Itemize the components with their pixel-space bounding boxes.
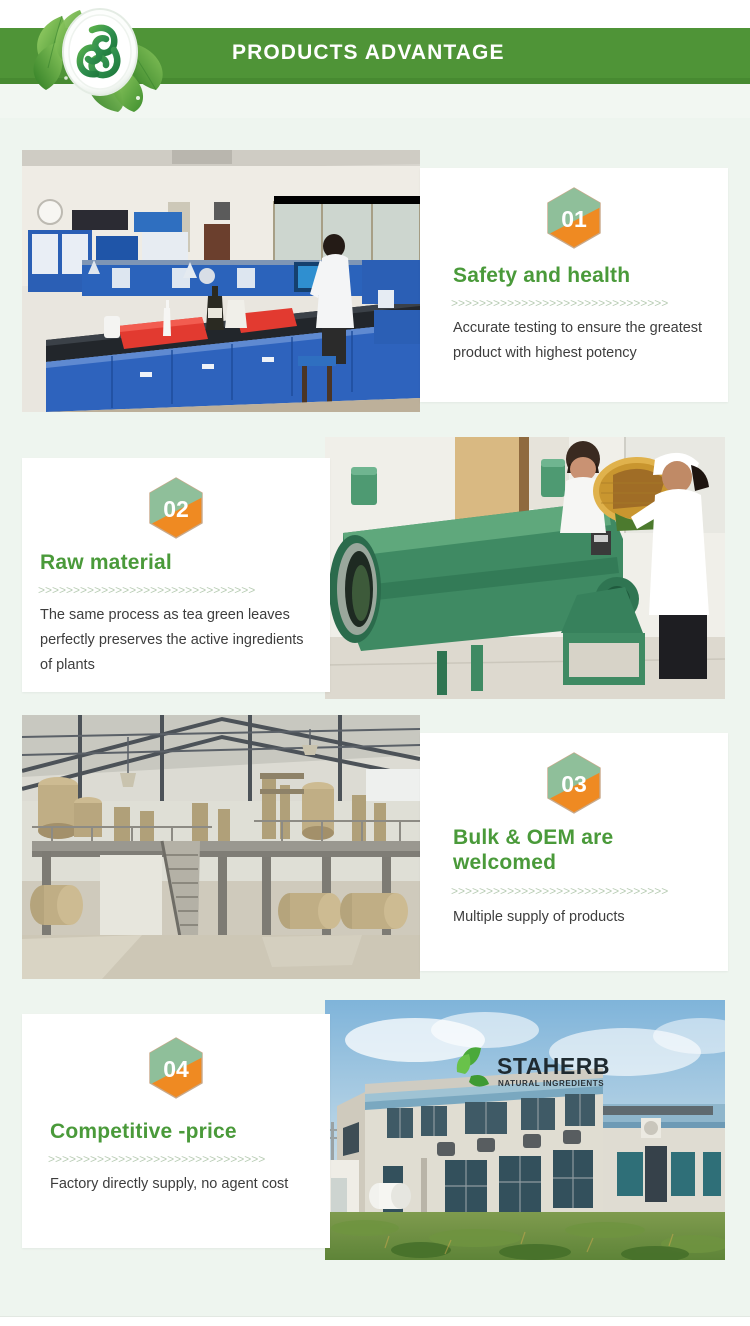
- advantage-card-4: 04 Competitive -price >>>>>>>>>>>>>>>>>>…: [22, 1014, 330, 1248]
- advantage-row-4: STAHERB NATURAL INGREDIENTS: [0, 1000, 750, 1262]
- advantage-number-01: 01: [561, 206, 587, 232]
- building-sign-brand: STAHERB: [497, 1053, 610, 1079]
- staherb-leaf-circle-logo-icon: [22, 2, 202, 114]
- advantage-card-1: 01 Safety and health >>>>>>>>>>>>>>>>>>>…: [420, 168, 728, 402]
- chevron-divider-01: >>>>>>>>>>>>>>>>>>>>>>>>>>>>>>>: [451, 296, 705, 310]
- advantage-badge-02: 02: [147, 476, 205, 540]
- advantage-title-04: Competitive -price: [50, 1119, 325, 1144]
- chevron-divider-03: >>>>>>>>>>>>>>>>>>>>>>>>>>>>>>>: [451, 884, 705, 898]
- advantage-body-02: The same process as tea green leaves per…: [40, 603, 315, 678]
- building-sign-tagline: NATURAL INGREDIENTS: [498, 1079, 604, 1088]
- factory-interior-photo: [22, 715, 420, 979]
- page-bottom-edge: [0, 1316, 750, 1326]
- advantage-number-02: 02: [163, 496, 189, 522]
- advantage-row-3: 03 Bulk & OEM are welcomed >>>>>>>>>>>>>…: [0, 715, 750, 979]
- advantage-number-03: 03: [561, 771, 587, 797]
- advantage-title-02: Raw material: [40, 550, 320, 575]
- roasting-machine-photo: [325, 437, 725, 699]
- chevron-divider-04: >>>>>>>>>>>>>>>>>>>>>>>>>>>>>>>: [48, 1152, 302, 1166]
- advantage-row-1: 01 Safety and health >>>>>>>>>>>>>>>>>>>…: [0, 150, 750, 412]
- advantage-number-04: 04: [163, 1056, 189, 1082]
- advantage-row-2: 02 Raw material >>>>>>>>>>>>>>>>>>>>>>>>…: [0, 437, 750, 699]
- advantage-badge-03: 03: [545, 751, 603, 815]
- advantage-title-01: Safety and health: [453, 263, 718, 288]
- advantage-badge-01: 01: [545, 186, 603, 250]
- advantage-body-04: Factory directly supply, no agent cost: [50, 1172, 300, 1197]
- advantage-badge-04: 04: [147, 1036, 205, 1100]
- lab-photo: [22, 150, 420, 412]
- advantage-card-3: 03 Bulk & OEM are welcomed >>>>>>>>>>>>>…: [420, 733, 728, 971]
- advantage-title-03: Bulk & OEM are welcomed: [453, 825, 683, 875]
- page-title: PRODUCTS ADVANTAGE: [232, 41, 505, 65]
- advantage-body-01: Accurate testing to ensure the greatest …: [453, 316, 719, 366]
- page-header: PRODUCTS ADVANTAGE: [0, 0, 750, 118]
- advantage-body-03: Multiple supply of products: [453, 905, 703, 930]
- chevron-divider-02: >>>>>>>>>>>>>>>>>>>>>>>>>>>>>>>: [38, 583, 292, 597]
- advantage-card-2: 02 Raw material >>>>>>>>>>>>>>>>>>>>>>>>…: [22, 458, 330, 692]
- staherb-building-photo: STAHERB NATURAL INGREDIENTS: [325, 1000, 725, 1260]
